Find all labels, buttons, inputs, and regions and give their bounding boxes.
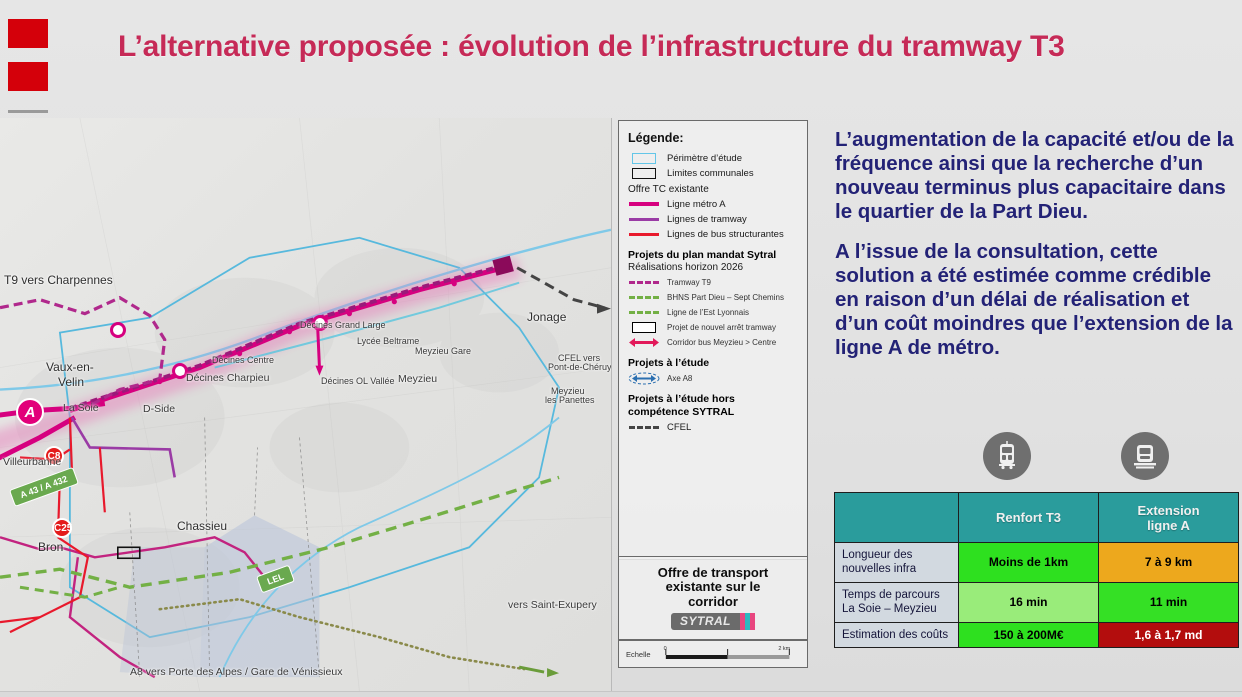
cell-extension-longueur: 7 à 9 km <box>1099 543 1239 583</box>
map-label: A8 vers Porte des Alpes / Gare de Véniss… <box>130 666 342 678</box>
legend-item-axe-a8: Axe A8 <box>628 372 798 384</box>
table-row: Temps de parcours La Soie – Meyzieu 16 m… <box>835 582 1239 622</box>
legend-heading-study: Projets à l’étude <box>628 357 798 369</box>
legend-heading-outside-l1: Projets à l’étude hors <box>628 393 798 405</box>
legend-item-limites: Limites communales <box>628 167 798 179</box>
map-label: Lycée Beltrame <box>357 336 419 346</box>
legend-label: Projet de nouvel arrêt tramway <box>667 323 776 332</box>
legend-subheading-2026: Réalisations horizon 2026 <box>628 262 798 273</box>
cell-renfort-couts: 150 à 200M€ <box>959 622 1099 647</box>
bus-c25-marker[interactable]: C25 <box>52 518 72 538</box>
cell-extension-temps: 11 min <box>1099 582 1239 622</box>
paragraph-2: A l’issue de la consultation, cette solu… <box>835 240 1235 360</box>
metro-a-marker[interactable]: A <box>16 398 44 426</box>
right-text-panel: L’augmentation de la capacité et/ou de l… <box>835 128 1235 376</box>
offre-title-line1: Offre de transport <box>658 565 769 580</box>
legend-label: Ligne de l’Est Lyonnais <box>667 308 749 317</box>
brand-rule <box>8 110 48 113</box>
map-label: Décines OL Vallée <box>321 376 395 386</box>
tram-icon <box>983 432 1031 480</box>
cell-renfort-temps: 16 min <box>959 582 1099 622</box>
legend-label: Ligne métro A <box>667 199 726 210</box>
map-label: Pont-de-Chéruy <box>548 362 612 372</box>
sytral-logo-text: SYTRAL <box>671 613 740 630</box>
map-label: D-Side <box>143 403 175 415</box>
legend-item-bhns: BHNS Part Dieu – Sept Chemins <box>628 291 798 303</box>
map-label: Velin <box>58 375 84 389</box>
map-label: Bron <box>38 540 63 554</box>
scale-graphic: 0 2 km <box>657 644 800 664</box>
slide-root: L’alternative proposée : évolution de l’… <box>0 0 1242 697</box>
legend-label: Lignes de bus structurantes <box>667 229 784 240</box>
offre-transport-box: Offre de transport existante sur le corr… <box>618 556 808 640</box>
slide-bottom-strip <box>0 691 1242 697</box>
table-header-row: Renfort T3 Extension ligne A <box>835 493 1239 543</box>
legend-label: Axe A8 <box>667 374 692 383</box>
mode-icon-row <box>835 432 1235 490</box>
tram-t9-marker[interactable]: T9 <box>110 322 126 338</box>
legend-item-perimetre: Périmètre d’étude <box>628 152 798 164</box>
sytral-logo: SYTRAL <box>671 613 755 630</box>
scale-label: Echelle <box>626 650 651 659</box>
table-header-extension-ligne-a: Extension ligne A <box>1099 493 1239 543</box>
legend-item-tramway: Lignes de tramway <box>628 213 798 225</box>
header-text-line2: ligne A <box>1147 518 1190 533</box>
map-label: Meyzieu Gare <box>415 346 471 356</box>
offre-title-line3: corridor <box>688 594 738 609</box>
metro-icon <box>1121 432 1169 480</box>
legend-item-t9: Tramway T9 <box>628 276 798 288</box>
cell-renfort-longueur: Moins de 1km <box>959 543 1099 583</box>
tram-t9-dashed-icon <box>628 276 660 288</box>
cfel-dashed-icon <box>628 421 660 433</box>
legend-label: BHNS Part Dieu – Sept Chemins <box>667 293 784 302</box>
map-panel[interactable]: A T9 T3 T7 C8 C25 A 43 / A 432 LEL T9 ve… <box>0 118 612 692</box>
sytral-logo-bars <box>740 613 755 630</box>
table-header-renfort-t3: Renfort T3 <box>959 493 1099 543</box>
table-row: Estimation des coûts 150 à 200M€ 1,6 à 1… <box>835 622 1239 647</box>
map-label: Jonage <box>527 310 566 324</box>
table-corner-cell <box>835 493 959 543</box>
svg-text:0: 0 <box>663 646 666 652</box>
map-label: La Soie <box>63 402 99 414</box>
tramway-line-icon <box>628 213 660 225</box>
brand-mark-top <box>8 19 48 48</box>
map-label: Décines Charpieu <box>186 372 269 384</box>
offre-title: Offre de transport existante sur le corr… <box>658 566 769 610</box>
map-label: Vaux-en- <box>46 360 94 374</box>
legend-item-bus: Lignes de bus structurantes <box>628 228 798 240</box>
axe-a8-icon <box>628 372 660 384</box>
legend-heading-projects: Projets du plan mandat Sytral <box>628 249 798 261</box>
row-label-couts: Estimation des coûts <box>835 622 959 647</box>
map-scale-bar: Echelle 0 2 km <box>618 640 808 668</box>
legend-title: Légende: <box>628 131 798 145</box>
legend-label: Corridor bus Meyzieu > Centre <box>667 338 776 347</box>
legend-item-cfel: CFEL <box>628 421 798 433</box>
offre-title-line2: existante sur le <box>666 579 761 594</box>
map-label: Chassieu <box>177 519 227 533</box>
lel-dashed-icon <box>628 306 660 318</box>
paragraph-1: L’augmentation de la capacité et/ou de l… <box>835 128 1235 224</box>
comparison-table: Renfort T3 Extension ligne A Longueur de… <box>834 492 1239 648</box>
corridor-arrow-icon <box>628 336 660 348</box>
map-label: Meyzieu <box>398 373 437 385</box>
legend-heading-outside-l2: compétence SYTRAL <box>628 406 798 418</box>
brand-mark-bottom <box>8 62 48 91</box>
legend-item-corridor: Corridor bus Meyzieu > Centre <box>628 336 798 348</box>
map-label: vers Saint-Exupery <box>508 599 597 611</box>
bhns-dashed-icon <box>628 291 660 303</box>
map-label: Décines Grand Large <box>300 320 386 330</box>
bus-line-icon <box>628 228 660 240</box>
map-label: Villeurbanne <box>3 456 61 468</box>
table-row: Longueur des nouvelles infra Moins de 1k… <box>835 543 1239 583</box>
legend-label: Limites communales <box>667 168 754 179</box>
map-label: T9 vers Charpennes <box>4 273 113 287</box>
legend-label: Périmètre d’étude <box>667 153 742 164</box>
map-label: Décines Centre <box>212 355 274 365</box>
legend-item-new-stop: Projet de nouvel arrêt tramway <box>628 321 798 333</box>
map-label: les Panettes <box>545 395 595 405</box>
cell-extension-couts: 1,6 à 1,7 md <box>1099 622 1239 647</box>
header-text: Renfort T3 <box>996 510 1061 525</box>
commune-box-icon <box>628 167 660 179</box>
page-title: L’alternative proposée : évolution de l’… <box>118 30 1228 64</box>
legend-subheading-existing: Offre TC existante <box>628 184 798 195</box>
map-legend: Légende: Périmètre d’étude Limites commu… <box>618 120 808 560</box>
legend-label: Lignes de tramway <box>667 214 747 225</box>
perimeter-box-icon <box>628 152 660 164</box>
svg-text:2 km: 2 km <box>778 646 791 652</box>
row-label-longueur: Longueur des nouvelles infra <box>835 543 959 583</box>
new-stop-box-icon <box>628 321 660 333</box>
legend-item-metro-a: Ligne métro A <box>628 198 798 210</box>
legend-item-lel: Ligne de l’Est Lyonnais <box>628 306 798 318</box>
metro-a-line-icon <box>628 198 660 210</box>
legend-label: Tramway T9 <box>667 278 711 287</box>
header-text-line1: Extension <box>1137 503 1199 518</box>
row-label-temps: Temps de parcours La Soie – Meyzieu <box>835 582 959 622</box>
legend-label: CFEL <box>667 422 691 433</box>
